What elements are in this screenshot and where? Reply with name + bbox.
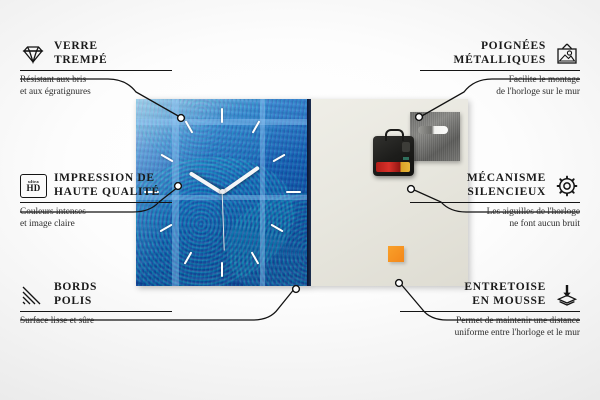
feature-impression-haute-qualite: ultra HD IMPRESSION DEHAUTE QUALITÉ Coul… bbox=[20, 172, 190, 230]
divider bbox=[420, 70, 580, 71]
gear-icon bbox=[554, 174, 580, 198]
diamond-icon bbox=[20, 42, 46, 66]
feature-description: Permet de maintenir une distanceuniforme… bbox=[400, 316, 580, 339]
ultra-hd-main-label: HD bbox=[26, 184, 40, 193]
picture-frame-hanger-icon bbox=[554, 42, 580, 66]
feature-verre-trempe: VERRETREMPÉ Résistant aux briset aux égr… bbox=[20, 40, 180, 98]
metal-hanger-plate bbox=[410, 112, 460, 161]
clock-tick bbox=[221, 108, 223, 123]
callout-dot bbox=[293, 286, 300, 293]
mechanism-hanging-hook bbox=[385, 129, 404, 141]
clock-tick bbox=[286, 191, 301, 193]
arrow-down-pad-icon bbox=[554, 283, 580, 307]
feature-title: POIGNÉESMÉTALLIQUES bbox=[454, 40, 546, 67]
mechanism-setting-dial bbox=[402, 142, 410, 152]
polished-edge-hatch-icon bbox=[20, 283, 46, 307]
clock-tick bbox=[221, 262, 223, 277]
feature-description: Couleurs intenseset image claire bbox=[20, 207, 190, 230]
feature-bords-polis: BORDSPOLIS Surface lisse et sûre bbox=[20, 281, 180, 328]
feature-description: Les aiguilles de l'horlogene font aucun … bbox=[410, 207, 580, 230]
feature-poignees-metalliques: POIGNÉESMÉTALLIQUES Facilite le montaged… bbox=[420, 40, 580, 98]
clock-mechanism bbox=[373, 136, 414, 176]
print-grid-line bbox=[260, 99, 265, 286]
feature-entretoise-en-mousse: ENTRETOISEEN MOUSSE Permet de maintenir … bbox=[400, 281, 580, 339]
divider bbox=[20, 311, 172, 312]
feature-description: Facilite le montagede l'horloge sur le m… bbox=[420, 75, 580, 98]
feature-title: ENTRETOISEEN MOUSSE bbox=[464, 281, 546, 308]
ultra-hd-badge-icon: ultra HD bbox=[20, 174, 46, 198]
battery bbox=[376, 162, 410, 172]
divider bbox=[20, 70, 172, 71]
divider bbox=[20, 202, 172, 203]
feature-mecanisme-silencieux: MÉCANISMESILENCIEUX Les aiguilles de l'h… bbox=[410, 172, 580, 230]
feature-description: Surface lisse et sûre bbox=[20, 316, 180, 328]
mechanism-label bbox=[403, 157, 409, 160]
hanger-keyhole-slot bbox=[418, 126, 448, 134]
feature-title: IMPRESSION DEHAUTE QUALITÉ bbox=[54, 172, 160, 199]
feature-title: MÉCANISMESILENCIEUX bbox=[467, 172, 546, 199]
divider bbox=[400, 311, 580, 312]
clock-center-pivot bbox=[220, 189, 225, 194]
foam-spacer bbox=[388, 246, 404, 262]
feature-description: Résistant aux briset aux égratignures bbox=[20, 75, 180, 98]
feature-title: BORDSPOLIS bbox=[54, 281, 97, 308]
print-grid-line bbox=[136, 119, 311, 125]
feature-title: VERRETREMPÉ bbox=[54, 40, 107, 67]
divider bbox=[410, 202, 580, 203]
infographic-page: VERRETREMPÉ Résistant aux briset aux égr… bbox=[0, 0, 600, 400]
